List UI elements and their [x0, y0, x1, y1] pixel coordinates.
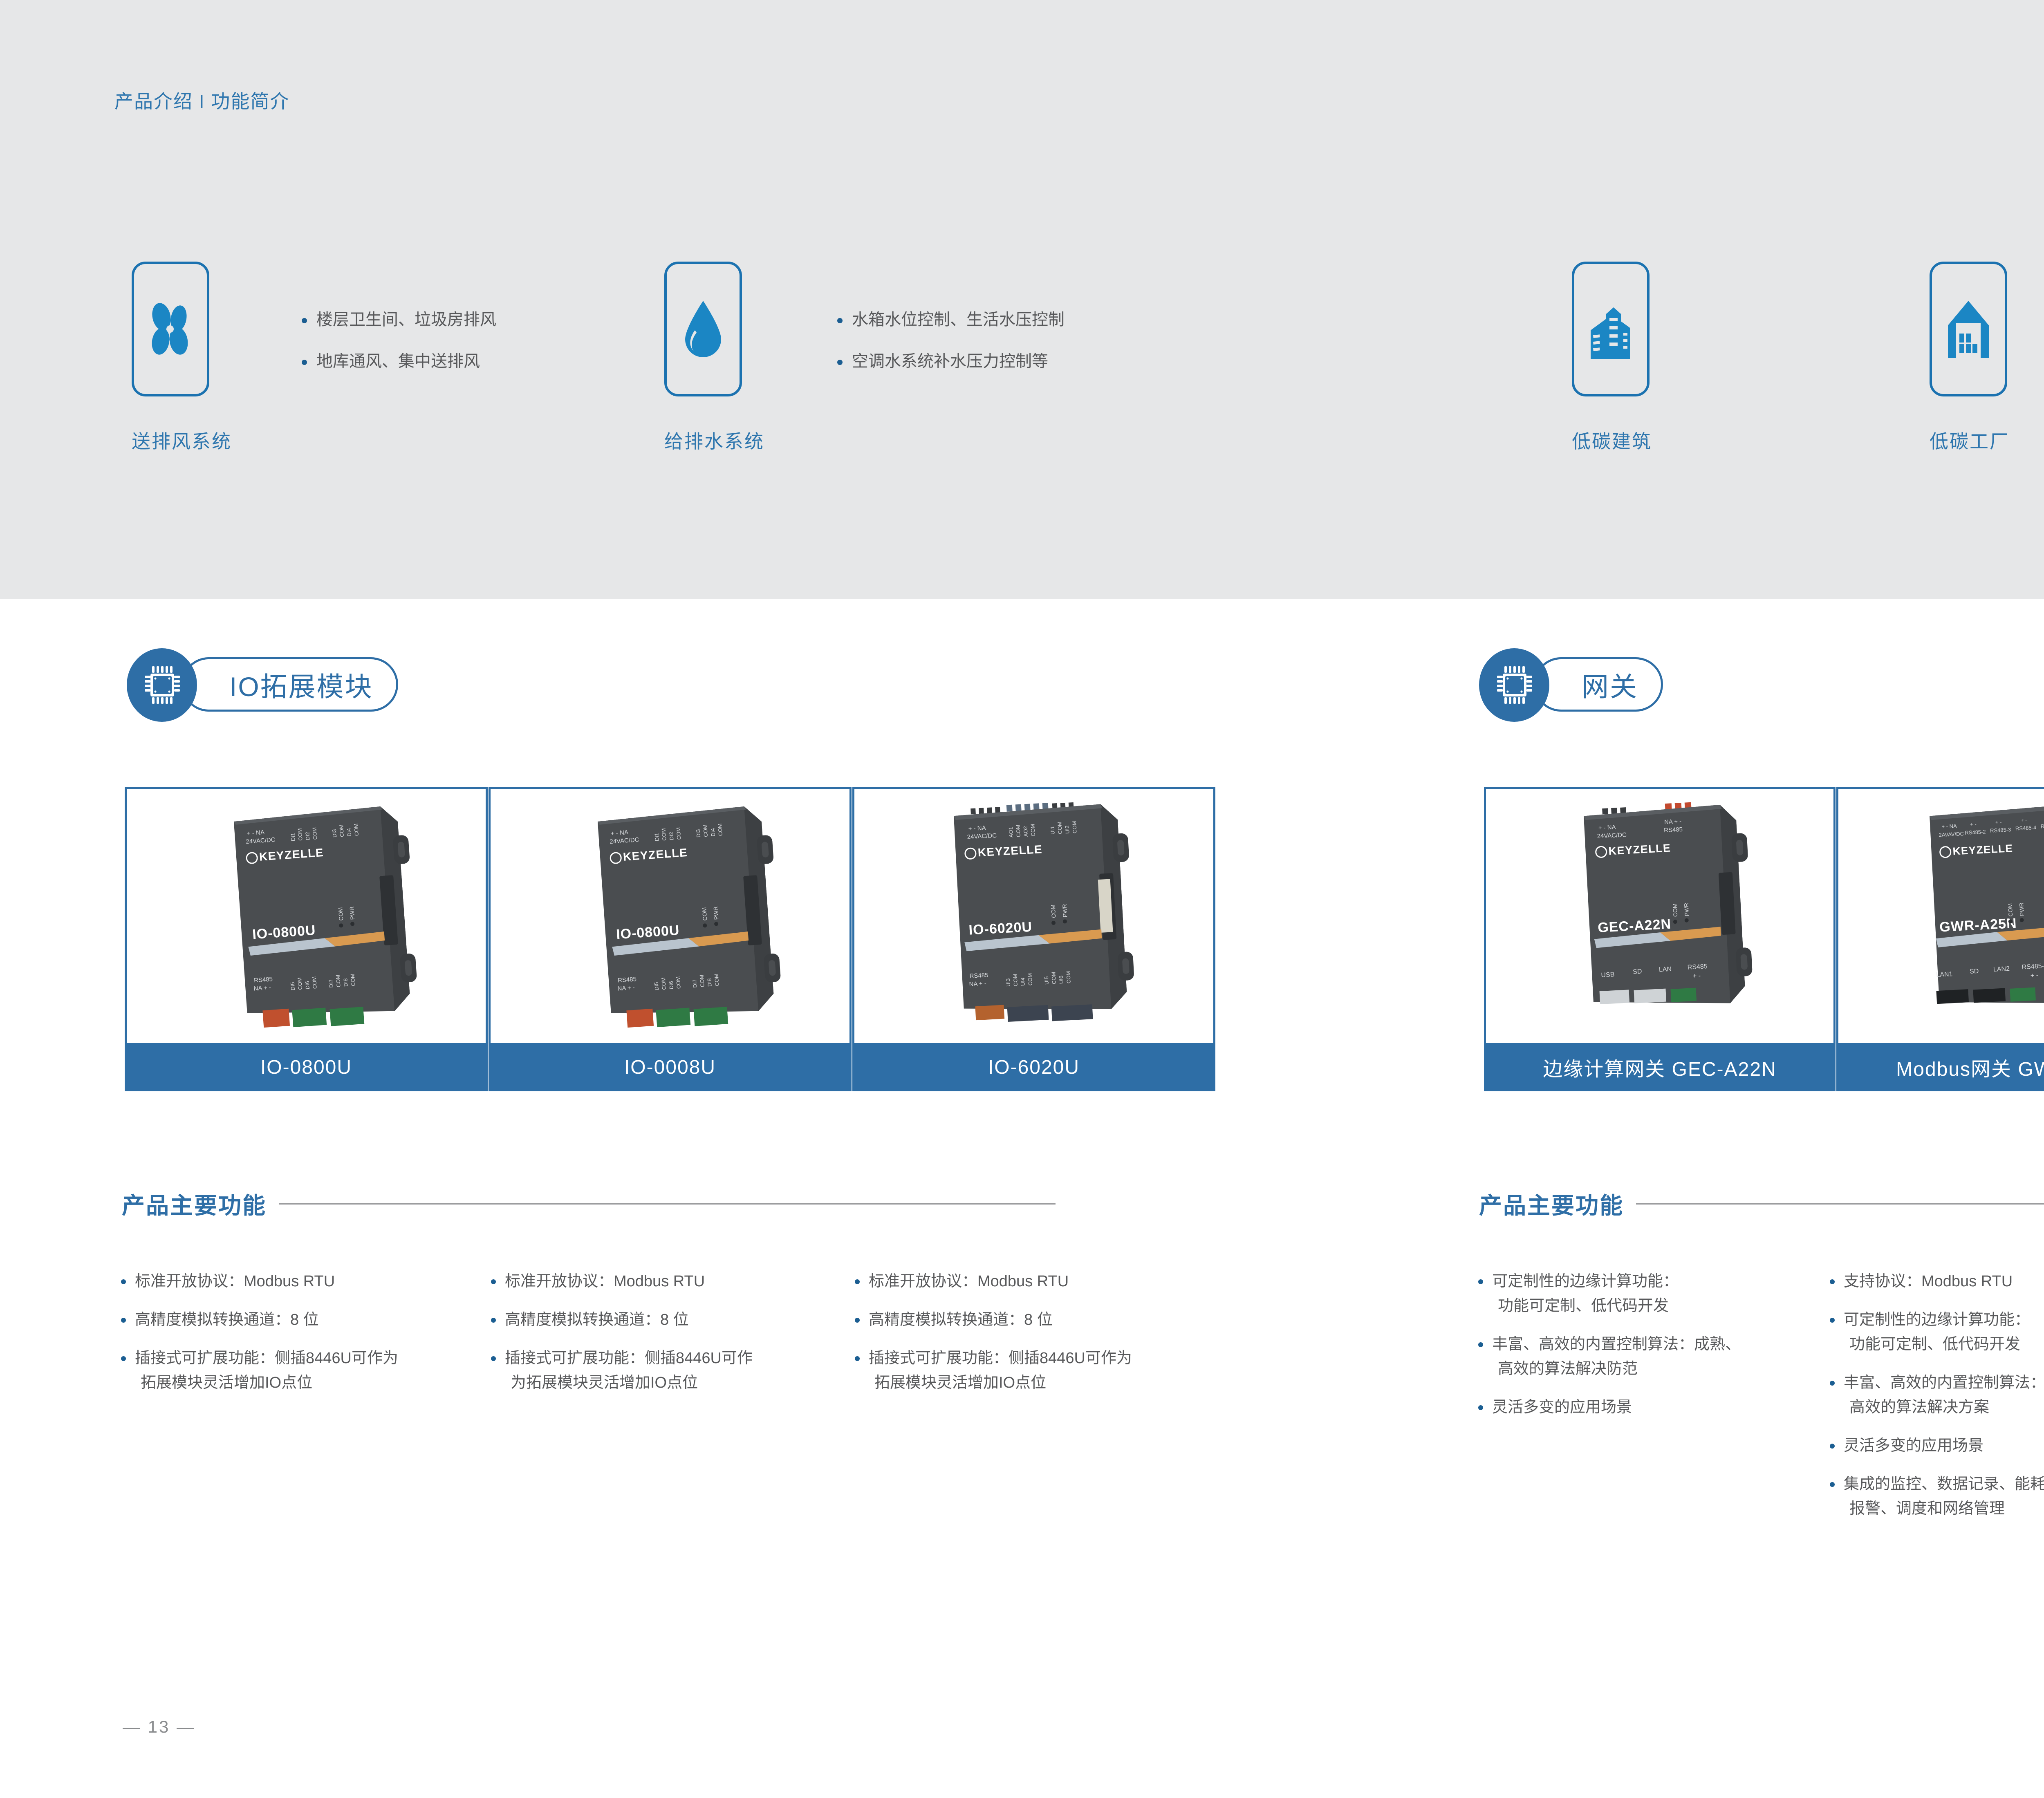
svg-text:COM: COM: [296, 828, 303, 841]
svg-text:DI5: DI5: [289, 982, 296, 990]
svg-text:COM: COM: [2007, 903, 2014, 916]
svg-text:PWR: PWR: [712, 906, 719, 920]
product-card[interactable]: + - NA 24VAC/DC AO1 COM AO2 COM UI1 COM …: [852, 787, 1215, 1091]
product-label: Modbus网关 GWR-A25N: [1838, 1043, 2044, 1091]
svg-text:DI3: DI3: [331, 829, 338, 837]
svg-text:RS485-1: RS485-1: [2022, 963, 2044, 971]
feature-item: 高精度模拟转换通道：8 位: [852, 1308, 1212, 1332]
water-drop-icon-frame: [664, 262, 742, 396]
scenario-block-low-carbon-factory: 低碳工厂: [1930, 262, 2007, 454]
svg-text:PWR: PWR: [348, 906, 356, 920]
feature-item: 标准开放协议：Modbus RTU: [119, 1269, 478, 1294]
feature-item: 高精度模拟转换通道：8 位: [119, 1308, 478, 1332]
feature-item: 集成的监控、数据记录、能耗计量、 报警、调度和网络管理: [1827, 1472, 2044, 1521]
svg-text:COM: COM: [311, 976, 318, 989]
svg-text:+ - NA: + - NA: [1598, 824, 1616, 831]
svg-text:+ -: + -: [2030, 972, 2038, 979]
svg-text:RS485: RS485: [1687, 963, 1708, 971]
product-label: IO-6020U: [854, 1043, 1213, 1091]
svg-text:COM: COM: [353, 823, 360, 836]
scenario-block-low-carbon-building: 低碳建筑: [1572, 262, 1650, 454]
factory-icon: [1945, 298, 1991, 360]
svg-text:DI6: DI6: [668, 981, 675, 990]
product-image: + - NA 24VAC/DC NA + - RS485 KEYZELLE GE…: [1486, 789, 1833, 1043]
svg-text:RA485-5: RA485-5: [2040, 822, 2044, 830]
section-title-pill-io: IO拓展模块: [182, 657, 398, 712]
bullet-item: 地库通风、集中送排风: [298, 353, 496, 369]
section-title-io: IO拓展模块: [184, 665, 396, 704]
svg-text:+ - NA: + - NA: [247, 829, 264, 837]
svg-text:SD: SD: [1970, 968, 1979, 975]
product-card[interactable]: + - NA + - + - + - + - 2AVAV/DC RS485-2 …: [1836, 787, 2044, 1091]
chip-icon: [144, 665, 180, 705]
features-rule: [279, 1203, 1056, 1205]
product-card[interactable]: + - NA 24VAC/DC NA + - RS485 KEYZELLE GE…: [1484, 787, 1836, 1091]
svg-text:+ - NA: + - NA: [968, 824, 986, 832]
svg-text:UI3: UI3: [1005, 978, 1011, 987]
svg-text:+ -: + -: [2020, 817, 2027, 823]
feature-item: 插接式可扩展功能：侧插8446U可作 为拓展模块灵活增加IO点位: [489, 1346, 848, 1395]
svg-text:COM: COM: [1050, 972, 1057, 984]
chip-icon-circle: [1479, 648, 1549, 722]
svg-text:+ - NA: + - NA: [1941, 823, 1957, 830]
svg-text:COM: COM: [350, 974, 356, 986]
svg-text:NA + -: NA + -: [969, 980, 986, 988]
svg-text:COM: COM: [1015, 824, 1022, 837]
svg-text:DI6: DI6: [304, 981, 311, 990]
svg-text:DI5: DI5: [653, 982, 660, 990]
svg-text:RS485: RS485: [618, 976, 637, 984]
svg-text:COM: COM: [1065, 971, 1072, 983]
svg-text:COM: COM: [1056, 822, 1063, 834]
svg-text:DI4: DI4: [346, 828, 352, 837]
svg-text:DI8: DI8: [342, 978, 349, 987]
section-title-pill-gateway: 网关: [1534, 657, 1663, 712]
section-title-gateway: 网关: [1536, 665, 1661, 704]
svg-text:DI4: DI4: [710, 828, 716, 837]
svg-text:NA + -: NA + -: [253, 984, 271, 992]
office-building-icon-frame: [1572, 262, 1650, 396]
features-title-io: 产品主要功能: [122, 1187, 267, 1220]
feature-item: 标准开放协议：Modbus RTU: [852, 1269, 1212, 1294]
svg-text:COM: COM: [335, 974, 342, 987]
chip-icon-circle: [127, 648, 197, 722]
application-block-plumbing: 给排水系统: [664, 262, 764, 454]
features-rule: [1636, 1203, 2044, 1205]
app-caption-ventilation: 送排风系统: [132, 427, 232, 454]
svg-text:LAN1: LAN1: [1936, 971, 1953, 978]
feature-item: 标准开放协议：Modbus RTU: [489, 1269, 848, 1294]
office-building-icon: [1584, 298, 1637, 360]
feature-item: 灵活多变的应用场景: [1476, 1395, 1819, 1420]
svg-text:UI1: UI1: [1049, 826, 1056, 835]
svg-text:PWR: PWR: [1683, 903, 1690, 916]
brochure-page: 产品介绍 I 功能简介 产品介绍 I 功能简介 送排风系统 楼层卫生间、垃圾房排…: [0, 0, 2044, 1798]
svg-text:COM: COM: [337, 907, 344, 921]
svg-text:COM: COM: [1071, 821, 1078, 833]
svg-text:COM: COM: [1012, 974, 1019, 986]
fan-icon-frame: [132, 262, 209, 396]
svg-text:PWR: PWR: [1061, 904, 1069, 917]
svg-text:SD: SD: [1633, 968, 1642, 976]
feature-item: 可定制性的边缘计算功能： 功能可定制、低代码开发: [1827, 1308, 2044, 1357]
product-image: + - NA 24VAC/DC DI1 COM DI2 COM DI3 COM …: [491, 789, 849, 1043]
bullet-item: 楼层卫生间、垃圾房排风: [298, 311, 496, 328]
svg-text:COM: COM: [699, 974, 706, 987]
svg-text:+ -: + -: [1995, 819, 2002, 825]
device-io-6020u: + - NA 24VAC/DC AO1 COM AO2 COM UI1 COM …: [854, 789, 1213, 1043]
svg-text:+ - NA: + - NA: [610, 829, 628, 837]
bullet-list-plumbing: 水箱水位控制、生活水压控制 空调水系统补水压力控制等: [834, 311, 1065, 395]
bullet-item: 水箱水位控制、生活水压控制: [834, 311, 1065, 328]
svg-text:RS485: RS485: [254, 976, 273, 984]
product-image: + - NA + - + - + - + - 2AVAV/DC RS485-2 …: [1838, 789, 2044, 1043]
svg-text:COM: COM: [675, 976, 682, 989]
svg-text:DI3: DI3: [695, 829, 702, 837]
application-block-ventilation: 送排风系统: [132, 262, 232, 454]
svg-text:UI2: UI2: [1064, 825, 1071, 834]
feature-item: 插接式可扩展功能：侧插8446U可作为 拓展模块灵活增加IO点位: [119, 1346, 478, 1395]
svg-text:COM: COM: [660, 977, 667, 990]
fan-icon: [146, 300, 195, 358]
svg-text:UI4: UI4: [1020, 977, 1026, 986]
svg-text:LAN2: LAN2: [1993, 965, 2010, 973]
svg-text:COM: COM: [311, 827, 318, 840]
svg-text:DI1: DI1: [653, 833, 660, 841]
product-image: + - NA 24VAC/DC DI1 COM DI2 COM DI3 COM …: [127, 789, 486, 1043]
feature-item: 插接式可扩展功能：侧插8446U可作为 拓展模块灵活增加IO点位: [852, 1346, 1212, 1395]
svg-text:DI7: DI7: [691, 979, 698, 988]
svg-text:DI2: DI2: [304, 832, 311, 840]
svg-text:AO2: AO2: [1022, 826, 1029, 837]
svg-text:COM: COM: [660, 828, 667, 841]
svg-text:+ -: + -: [1970, 821, 1977, 828]
product-label: IO-0800U: [127, 1043, 486, 1091]
svg-text:RS485-2: RS485-2: [1965, 828, 1986, 836]
feature-item: 丰富、高效的内置控制算法：成熟、 高效的算法解决防范: [1476, 1332, 1819, 1381]
factory-icon-frame: [1930, 262, 2007, 396]
svg-text:COM: COM: [701, 907, 708, 921]
svg-text:RS485: RS485: [969, 972, 988, 979]
product-card[interactable]: + - NA 24VAC/DC DI1 COM DI2 COM DI3 COM …: [125, 787, 488, 1091]
svg-text:DI8: DI8: [706, 978, 713, 987]
svg-text:NA + -: NA + -: [617, 984, 635, 992]
svg-text:COM: COM: [296, 977, 303, 990]
water-drop-icon: [680, 298, 726, 360]
svg-text:UI5: UI5: [1043, 976, 1050, 985]
svg-text:IO-6020U: IO-6020U: [968, 919, 1033, 938]
feature-item: 灵活多变的应用场景: [1827, 1433, 2044, 1458]
svg-text:+ -: + -: [1693, 972, 1701, 980]
svg-text:DI2: DI2: [668, 832, 675, 840]
product-card[interactable]: + - NA 24VAC/DC DI1 COM DI2 COM DI3 COM …: [489, 787, 852, 1091]
svg-text:COM: COM: [1050, 905, 1057, 918]
svg-text:COM: COM: [702, 824, 709, 837]
svg-text:RS485: RS485: [1664, 826, 1683, 834]
top-gray-band: [0, 0, 2044, 599]
svg-text:PWR: PWR: [2018, 902, 2025, 916]
page-number-left: — 13 —: [123, 1717, 195, 1737]
svg-text:USB: USB: [1601, 971, 1615, 979]
app-caption-plumbing: 给排水系统: [664, 427, 764, 454]
svg-text:COM: COM: [675, 827, 682, 840]
svg-text:2AVAV/DC: 2AVAV/DC: [1939, 831, 1964, 838]
scenario-caption-building: 低碳建筑: [1572, 427, 1650, 454]
svg-text:DI7: DI7: [327, 979, 334, 988]
scenario-caption-factory: 低碳工厂: [1930, 427, 2007, 454]
svg-text:COM: COM: [1026, 973, 1033, 985]
product-label: 边缘计算网关 GEC-A22N: [1486, 1043, 1833, 1091]
device-io-0008u: + - NA 24VAC/DC DI1 COM DI2 COM DI3 COM …: [491, 789, 849, 1043]
device-gec-a22n: + - NA 24VAC/DC NA + - RS485 KEYZELLE GE…: [1486, 789, 1833, 1043]
chip-icon: [1496, 665, 1532, 705]
svg-text:NA + -: NA + -: [1664, 818, 1682, 826]
feature-item: 支持协议：Modbus RTU: [1827, 1269, 2044, 1294]
product-image: + - NA 24VAC/DC AO1 COM AO2 COM UI1 COM …: [854, 789, 1213, 1043]
svg-text:COM: COM: [713, 974, 720, 986]
device-io-0800u: + - NA 24VAC/DC DI1 COM DI2 COM DI3 COM …: [127, 789, 486, 1043]
svg-text:DI1: DI1: [289, 833, 296, 841]
bullet-list-ventilation: 楼层卫生间、垃圾房排风 地库通风、集中送排风: [298, 311, 496, 395]
svg-text:RS485-4: RS485-4: [2015, 824, 2037, 832]
feature-column: 支持协议：Modbus RTU 可定制性的边缘计算功能： 功能可定制、低代码开发…: [1827, 1269, 2044, 1535]
svg-text:COM: COM: [1672, 903, 1679, 917]
feature-item: 丰富、高效的内置控制算法：成熟、 高效的算法解决方案: [1827, 1370, 2044, 1420]
svg-text:COM: COM: [717, 823, 724, 836]
svg-text:LAN: LAN: [1659, 966, 1672, 974]
product-label: IO-0008U: [491, 1043, 849, 1091]
features-header-gateway: 产品主要功能: [1479, 1187, 2044, 1220]
features-title-gateway: 产品主要功能: [1479, 1187, 1624, 1220]
svg-text:RS485-3: RS485-3: [1990, 826, 2011, 834]
svg-text:COM: COM: [338, 824, 345, 837]
feature-column: 标准开放协议：Modbus RTU 高精度模拟转换通道：8 位 插接式可扩展功能…: [852, 1269, 1212, 1409]
features-header-io: 产品主要功能: [122, 1187, 1214, 1220]
running-header-left: 产品介绍 I 功能简介: [114, 87, 289, 114]
feature-column: 标准开放协议：Modbus RTU 高精度模拟转换通道：8 位 插接式可扩展功能…: [489, 1269, 848, 1409]
feature-item: 可定制性的边缘计算功能： 功能可定制、低代码开发: [1476, 1269, 1819, 1318]
feature-item: 高精度模拟转换通道：8 位: [489, 1308, 848, 1332]
device-gwr-a25n: + - NA + - + - + - + - 2AVAV/DC RS485-2 …: [1838, 789, 2044, 1043]
feature-column: 标准开放协议：Modbus RTU 高精度模拟转换通道：8 位 插接式可扩展功能…: [119, 1269, 478, 1409]
svg-text:COM: COM: [1029, 824, 1036, 837]
bullet-item: 空调水系统补水压力控制等: [834, 353, 1065, 369]
svg-text:UI6: UI6: [1058, 975, 1065, 984]
feature-column: 可定制性的边缘计算功能： 功能可定制、低代码开发 丰富、高效的内置控制算法：成熟…: [1476, 1269, 1819, 1433]
svg-text:AO1: AO1: [1008, 827, 1014, 838]
